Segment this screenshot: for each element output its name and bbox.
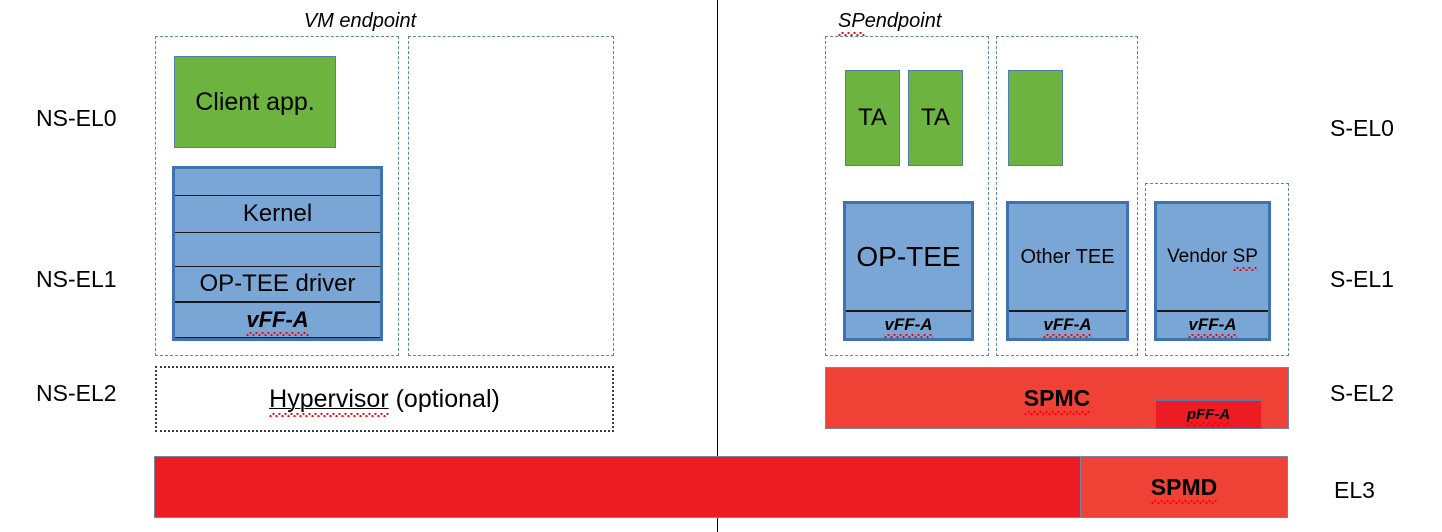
spmc-label-text: SPMC [1024, 385, 1090, 412]
kernel-stack-row-blank-top [175, 169, 380, 195]
spmd-label-text: SPMD [1151, 474, 1217, 501]
sp-block-optee-vffa-label: vFF-A [884, 315, 932, 335]
label-ns-el0: NS-EL0 [36, 103, 156, 133]
kernel-vffa-label: vFF-A [246, 307, 308, 333]
kernel-stack-row-optee-driver[interactable]: OP-TEE driver [175, 266, 380, 302]
sp-block-other-tee-vffa-label: vFF-A [1043, 315, 1091, 335]
kernel-stack-row-blank-mid [175, 233, 380, 266]
sp-block-vendor-sp-spell: SP [1233, 246, 1258, 268]
hypervisor-label-rest: (optional) [389, 385, 500, 413]
spmc-pffa-label: pFF-A [1187, 406, 1230, 423]
ta-box-1-label: TA [858, 104, 887, 132]
vm-endpoint-caption-text: VM endpoint [304, 10, 416, 33]
kernel-stack: Kernel OP-TEE driver vFF-A [172, 166, 383, 341]
sp-endpoint-caption-rest: endpoint [865, 10, 942, 33]
label-ns-el2: NS-EL2 [36, 378, 156, 408]
sp-block-vendor-sp-vffa-label: vFF-A [1188, 315, 1236, 335]
sp-block-vendor-sp-title-text: Vendor SP [1167, 246, 1258, 268]
sp-endpoint-caption-word: SP [838, 10, 865, 33]
kernel-stack-row-vffa[interactable]: vFF-A [175, 302, 380, 338]
sp-endpoint-caption: SP endpoint [838, 8, 1058, 34]
hypervisor-box[interactable]: Hypervisor (optional) [155, 366, 614, 432]
label-s-el0: S-EL0 [1330, 113, 1442, 143]
vm-endpoint-caption: VM endpoint [250, 8, 470, 34]
hypervisor-label: Hypervisor (optional) [269, 385, 500, 414]
ta-box-1[interactable]: TA [845, 70, 900, 166]
ta-box-2-label: TA [921, 104, 950, 132]
sp-block-vendor-sp[interactable]: Vendor SP vFF-A [1154, 201, 1271, 341]
spmd-label: SPMD [1151, 474, 1217, 501]
hypervisor-label-word: Hypervisor [269, 385, 388, 414]
spmc-pffa-box[interactable]: pFF-A [1155, 400, 1262, 429]
label-ns-el1: NS-EL1 [36, 264, 156, 294]
spmd-box[interactable]: SPMD [1080, 456, 1288, 518]
ta-box-2[interactable]: TA [908, 70, 963, 166]
spmc-label: SPMC [1024, 385, 1090, 412]
sp-block-other-tee-title: Other TEE [1009, 204, 1126, 310]
ta-box-3[interactable] [1008, 70, 1063, 166]
client-app-box[interactable]: Client app. [174, 56, 336, 148]
label-s-el2: S-EL2 [1330, 378, 1442, 408]
sp-block-optee-vffa: vFF-A [846, 310, 971, 338]
sp-block-vendor-sp-vffa: vFF-A [1157, 310, 1268, 338]
sp-block-vendor-sp-title: Vendor SP [1157, 204, 1268, 310]
sp-block-other-tee[interactable]: Other TEE vFF-A [1006, 201, 1129, 341]
vm-endpoint-box-2 [408, 36, 614, 356]
client-app-label: Client app. [195, 88, 315, 117]
label-s-el1: S-EL1 [1330, 264, 1442, 294]
sp-block-other-tee-vffa: vFF-A [1009, 310, 1126, 338]
label-el3: EL3 [1334, 475, 1442, 505]
kernel-stack-row-kernel[interactable]: Kernel [175, 195, 380, 233]
world-divider [717, 0, 718, 532]
sp-block-optee[interactable]: OP-TEE vFF-A [843, 201, 974, 341]
diagram-canvas: NS-EL0 NS-EL1 NS-EL2 S-EL0 S-EL1 S-EL2 E… [0, 0, 1442, 532]
sp-block-optee-title: OP-TEE [846, 204, 971, 310]
